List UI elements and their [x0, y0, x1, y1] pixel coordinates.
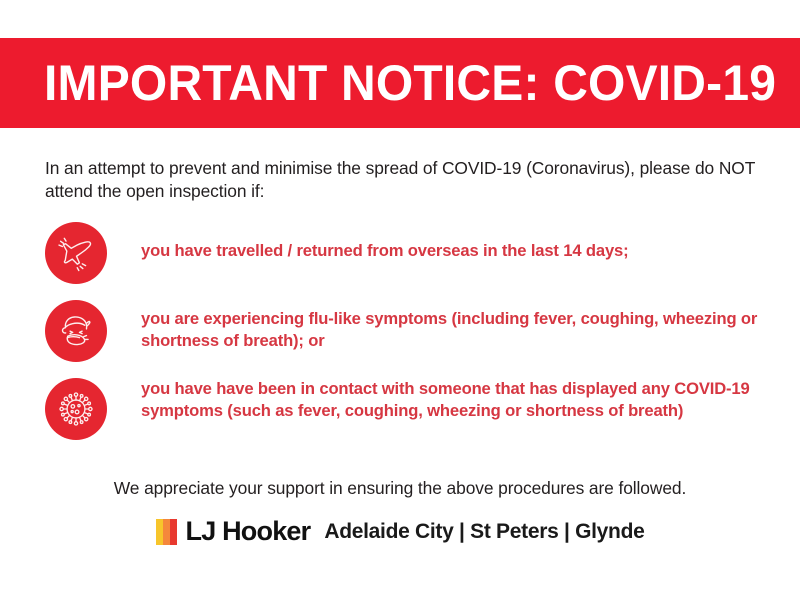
- icon-badge-travel: [45, 222, 107, 284]
- masked-face-icon: [55, 310, 97, 352]
- intro-paragraph: In an attempt to prevent and minimise th…: [45, 157, 755, 203]
- list-item-label: you have travelled / returned from overs…: [141, 222, 628, 262]
- icon-badge-symptoms: [45, 300, 107, 362]
- virus-icon: [55, 388, 97, 430]
- lj-hooker-logo-bars-icon: [156, 519, 177, 545]
- footer-branding: LJ Hooker Adelaide City | St Peters | Gl…: [0, 518, 800, 545]
- condition-list: you have travelled / returned from overs…: [45, 222, 760, 440]
- airplane-icon: [55, 232, 97, 274]
- icon-badge-virus: [45, 378, 107, 440]
- page-title: IMPORTANT NOTICE: COVID-19: [44, 58, 776, 108]
- lj-hooker-wordmark: LJ Hooker: [186, 518, 311, 545]
- list-item-label: you have have been in contact with someo…: [141, 378, 760, 421]
- header-banner: IMPORTANT NOTICE: COVID-19: [0, 38, 800, 128]
- list-item: you are experiencing flu-like symptoms (…: [45, 300, 760, 362]
- closing-statement: We appreciate your support in ensuring t…: [0, 478, 800, 499]
- list-item-label: you are experiencing flu-like symptoms (…: [141, 300, 760, 351]
- list-item: you have travelled / returned from overs…: [45, 222, 760, 284]
- branch-names: Adelaide City | St Peters | Glynde: [324, 521, 644, 542]
- list-item: you have have been in contact with someo…: [45, 378, 760, 440]
- covid-notice-card: IMPORTANT NOTICE: COVID-19 In an attempt…: [0, 0, 800, 600]
